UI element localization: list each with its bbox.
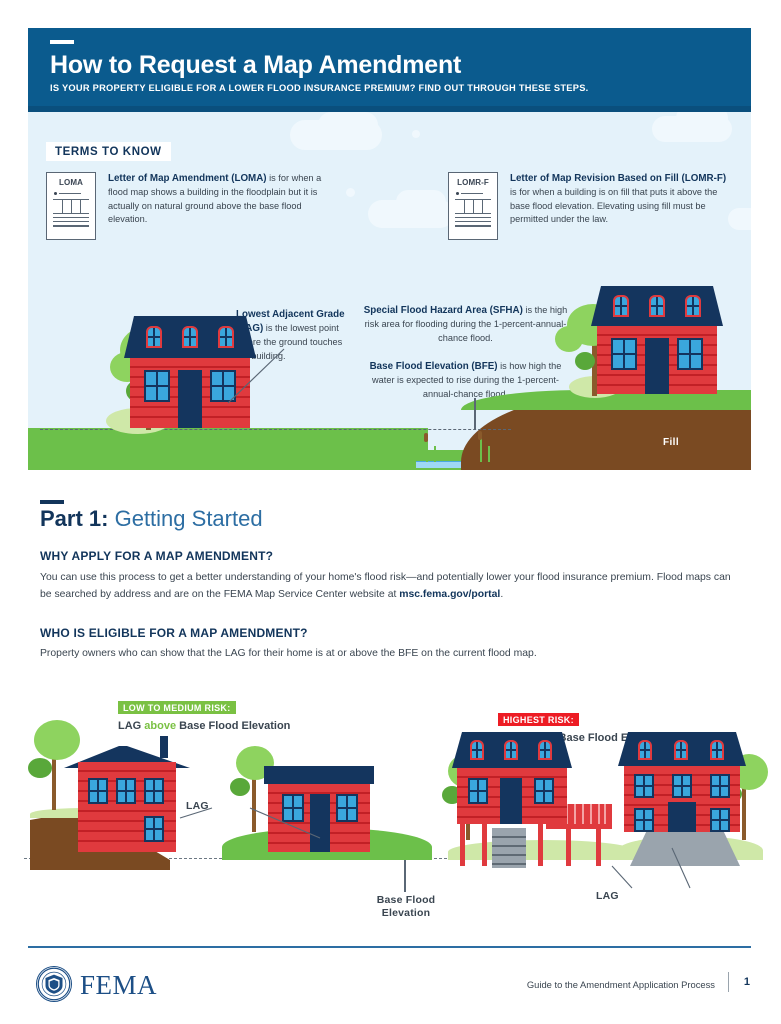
why-apply-text: You can use this process to get a better…	[40, 572, 731, 600]
lag-annotation-right: LAG	[596, 890, 619, 903]
page-subtitle: IS YOUR PROPERTY ELIGIBLE FOR A LOWER FL…	[50, 83, 729, 93]
term-lomrf: LOMR-F Letter of Map Revision Based on F…	[448, 172, 735, 240]
cattail-head	[478, 431, 482, 440]
cattail-stem	[488, 446, 490, 462]
dormer-window	[613, 295, 629, 317]
tree-foliage	[555, 326, 583, 352]
doc-dot-line	[456, 192, 490, 195]
header-accent-dash	[50, 40, 74, 44]
house-right-on-fill	[591, 286, 723, 394]
why-apply-heading: WHY APPLY FOR A MAP AMENDMENT?	[40, 549, 273, 563]
doc-line	[455, 221, 491, 222]
annotation-leader-lines	[0, 688, 781, 928]
base-flood-elevation-dashed-line	[40, 429, 511, 430]
footer-separator	[728, 972, 729, 992]
dormer-window	[649, 295, 665, 317]
house-door	[178, 370, 202, 428]
doc-dot	[456, 192, 459, 195]
banner-scene-illustration: Fill	[28, 287, 751, 470]
lag-leader-line	[226, 347, 286, 407]
doc-dash	[59, 193, 81, 194]
bfe-annotation: Base Flood Elevation	[360, 894, 452, 920]
doc-line	[455, 217, 491, 218]
part-number: Part 1:	[40, 506, 108, 531]
lomrf-document-icon: LOMR-F	[448, 172, 498, 240]
term-loma: LOMA Letter of Map Amendment (LOMA) is f…	[46, 172, 323, 240]
dhs-seal-icon	[36, 966, 72, 1002]
doc-line	[455, 225, 491, 226]
cloud-icon	[412, 130, 420, 138]
lomrf-description: Letter of Map Revision Based on Fill (LO…	[510, 172, 735, 240]
cloud-icon	[318, 112, 378, 138]
fema-wordmark: FEMA	[80, 970, 157, 1001]
doc-line	[53, 225, 89, 226]
house-window	[677, 338, 703, 370]
loma-doc-label: LOMA	[51, 178, 91, 187]
loma-title: Letter of Map Amendment (LOMA)	[108, 173, 267, 184]
doc-dot	[54, 192, 57, 195]
doc-grid	[455, 199, 491, 214]
house-door	[645, 338, 669, 394]
lomrf-title: Letter of Map Revision Based on Fill (LO…	[510, 173, 726, 184]
lag-annotation-left: LAG	[186, 800, 209, 813]
document-page: How to Request a Map Amendment IS YOUR P…	[0, 0, 781, 1024]
doc-line	[53, 217, 89, 218]
footer-divider	[28, 946, 751, 948]
bfe-annotation-line2: Elevation	[360, 907, 452, 920]
cattail-head	[424, 433, 428, 442]
dormer-window	[182, 326, 198, 348]
bfe-annotation-line1: Base Flood	[360, 894, 452, 907]
cloud-icon	[676, 112, 728, 130]
cloud-icon	[346, 188, 355, 197]
dormer-window	[685, 295, 701, 317]
lomrf-doc-label: LOMR-F	[453, 178, 493, 187]
loma-document-icon: LOMA	[46, 172, 96, 240]
house-window	[144, 370, 170, 402]
msc-portal-link[interactable]: msc.fema.gov/portal	[399, 589, 500, 600]
cattail-stem	[480, 438, 482, 462]
loma-description: Letter of Map Amendment (LOMA) is for wh…	[108, 172, 323, 240]
who-eligible-heading: WHO IS ELIGIBLE FOR A MAP AMENDMENT?	[40, 626, 308, 640]
who-eligible-body: Property owners who can show that the LA…	[40, 646, 740, 663]
doc-dot-line	[54, 192, 88, 195]
why-apply-body: You can use this process to get a better…	[40, 570, 740, 603]
why-apply-text-end: .	[500, 589, 503, 600]
bfe-tick-marker	[474, 398, 476, 430]
part-name: Getting Started	[108, 506, 262, 531]
doc-dash	[461, 193, 483, 194]
page-header-banner: How to Request a Map Amendment IS YOUR P…	[28, 28, 751, 106]
cattail-stem	[434, 446, 436, 462]
dormer-window	[218, 326, 234, 348]
dormer-window	[146, 326, 162, 348]
doc-line	[53, 221, 89, 222]
lomrf-body: is for when a building is on fill that p…	[510, 187, 717, 224]
cloud-icon	[396, 190, 446, 214]
terms-to-know-badge: TERMS TO KNOW	[46, 142, 171, 161]
page-number: 1	[744, 976, 750, 988]
house-window	[611, 338, 637, 370]
ground-left	[28, 428, 428, 470]
fill-label: Fill	[663, 437, 679, 448]
footer-guide-note: Guide to the Amendment Application Proce…	[527, 979, 715, 990]
part-title: Part 1: Getting Started	[40, 506, 263, 532]
terms-and-illustration-panel: TERMS TO KNOW LOMA Letter of Map Amendme…	[28, 112, 751, 470]
cattail-stem	[426, 440, 428, 462]
doc-grid	[53, 199, 89, 214]
risk-comparison-illustration: LOW TO MEDIUM RISK: LAG above Base Flood…	[0, 688, 781, 928]
part-accent-dash	[40, 500, 64, 504]
page-title: How to Request a Map Amendment	[50, 52, 729, 78]
